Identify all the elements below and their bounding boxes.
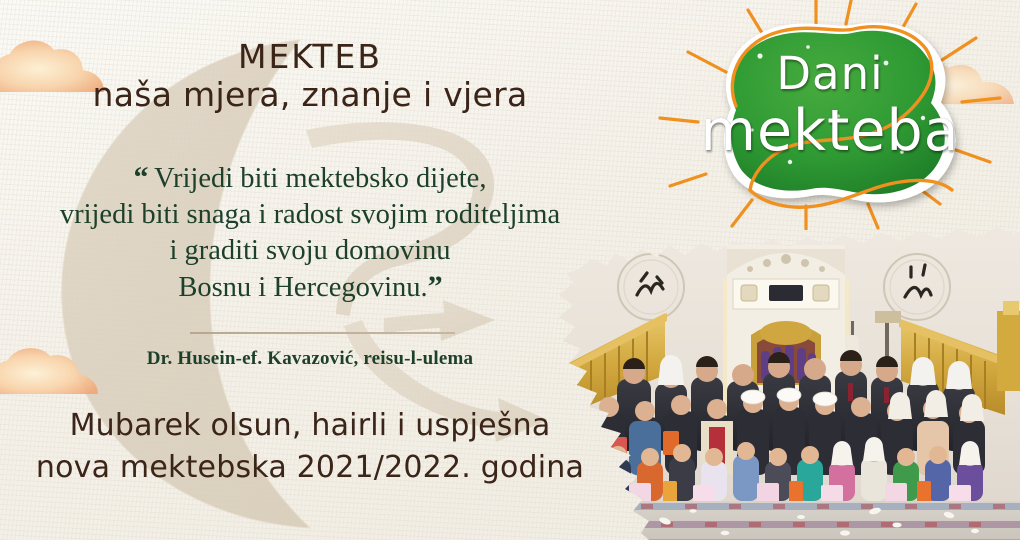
page-title: MEKTEB	[0, 40, 620, 73]
carpet-steps	[545, 501, 1020, 540]
poster-canvas: MEKTEB naša mjera, znanje i vjera “ Vrij…	[0, 0, 1020, 540]
quote-line-text: Bosnu i Hercegovinu.	[178, 272, 427, 303]
group-photo-graphic	[545, 215, 1020, 540]
wish-block: Mubarek olsun, hairli i uspješna nova me…	[0, 405, 620, 489]
quote-open-mark: “	[134, 161, 148, 194]
badge-graphic	[640, 0, 1020, 230]
quote-block: “ Vrijedi biti mektebsko dijete, vrijedi…	[10, 160, 610, 306]
wish-line-1: Mubarek olsun, hairli i uspješna	[0, 405, 620, 447]
quote-line: vrijedi biti snaga i radost svojim rodit…	[10, 197, 610, 233]
wish-line-2: nova mektebska 2021/2022. godina	[0, 447, 620, 489]
badge-blob	[731, 31, 945, 194]
dani-mekteba-badge[interactable]: Dani mekteba	[640, 0, 1020, 230]
group-photo	[545, 215, 1020, 540]
quote-line: “ Vrijedi biti mektebsko dijete,	[10, 160, 610, 197]
quote-line-text: vrijedi biti snaga i radost svojim rodit…	[60, 199, 560, 230]
quote-line: i graditi svoju domovinu	[10, 233, 610, 269]
quote-line-text: Vrijedi biti mektebsko dijete,	[154, 163, 486, 194]
quote-line: Bosnu i Hercegovinu.”	[10, 269, 610, 306]
page-subtitle: naša mjera, znanje i vjera	[0, 78, 620, 111]
quote-close-mark: ”	[428, 270, 442, 303]
quote-line-text: i graditi svoju domovinu	[169, 235, 450, 266]
quote-divider	[190, 332, 455, 334]
text-column: MEKTEB naša mjera, znanje i vjera “ Vrij…	[0, 0, 620, 540]
quote-attribution: Dr. Husein-ef. Kavazović, reisu-l-ulema	[10, 348, 610, 370]
